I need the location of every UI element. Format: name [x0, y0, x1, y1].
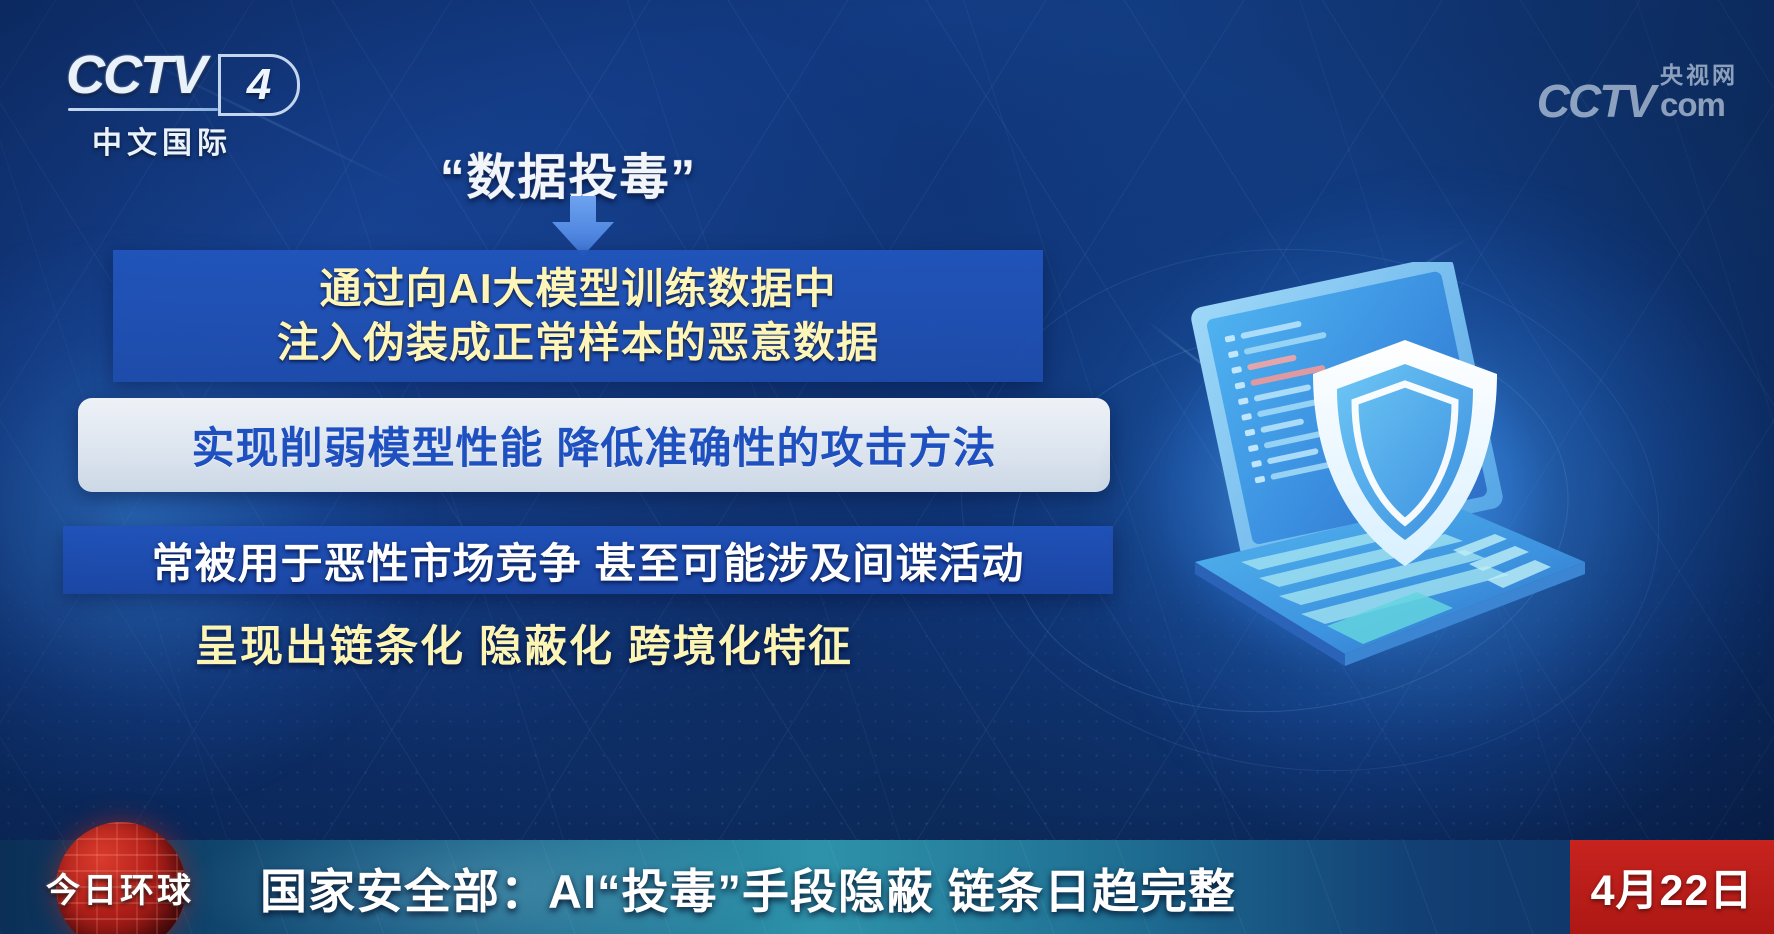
info-block-1: 通过向AI大模型训练数据中 注入伪装成正常样本的恶意数据 [113, 250, 1043, 382]
ticker-headline: 国家安全部：AI“投毒”手段隐蔽 链条日趋完整 [260, 853, 1236, 922]
info-block-3-line-1: 常被用于恶性市场竞争 甚至可能涉及间谍活动 [152, 530, 1025, 591]
info-block-2: 实现削弱模型性能 降低准确性的攻击方法 [78, 398, 1110, 492]
info-block-2-line-1: 实现削弱模型性能 降低准确性的攻击方法 [192, 414, 997, 476]
info-block-3: 常被用于恶性市场竞争 甚至可能涉及间谍活动 [63, 526, 1113, 594]
channel-logo-underline [68, 108, 218, 111]
watermark-cn-label: 央视网 [1660, 56, 1738, 90]
channel-logo: CCTV 4 中文国际 [66, 48, 306, 152]
down-arrow-icon [548, 196, 618, 258]
program-badge: 今日环球 [0, 840, 240, 934]
ticker-headline-container: 国家安全部：AI“投毒”手段隐蔽 链条日趋完整 [240, 840, 1570, 934]
news-ticker: 今日环球 国家安全部：AI“投毒”手段隐蔽 链条日趋完整 4月22日 [0, 840, 1774, 934]
info-block-1-line-1: 通过向AI大模型训练数据中 [319, 262, 836, 316]
channel-subtitle: 中文国际 [92, 118, 232, 162]
channel-number-badge: 4 [218, 54, 300, 116]
date-badge: 4月22日 [1570, 840, 1774, 934]
info-block-4: 呈现出链条化 隐蔽化 跨境化特征 [195, 608, 975, 678]
info-block-1-line-2: 注入伪装成正常样本的恶意数据 [277, 316, 879, 370]
date-label: 4月22日 [1591, 856, 1754, 918]
info-block-4-line-1: 呈现出链条化 隐蔽化 跨境化特征 [195, 612, 853, 674]
broadcast-frame: CCTV 4 中文国际 CCTV 央视网 com “数据投毒” 通过向AI大模型… [0, 0, 1774, 934]
cctv-com-watermark: CCTV 央视网 com [1537, 56, 1738, 124]
program-name: 今日环球 [46, 863, 194, 912]
channel-number: 4 [247, 60, 271, 110]
watermark-com-label: com [1660, 86, 1738, 124]
watermark-wordmark: CCTV [1537, 80, 1654, 124]
laptop-shield-illustration [1045, 262, 1605, 692]
